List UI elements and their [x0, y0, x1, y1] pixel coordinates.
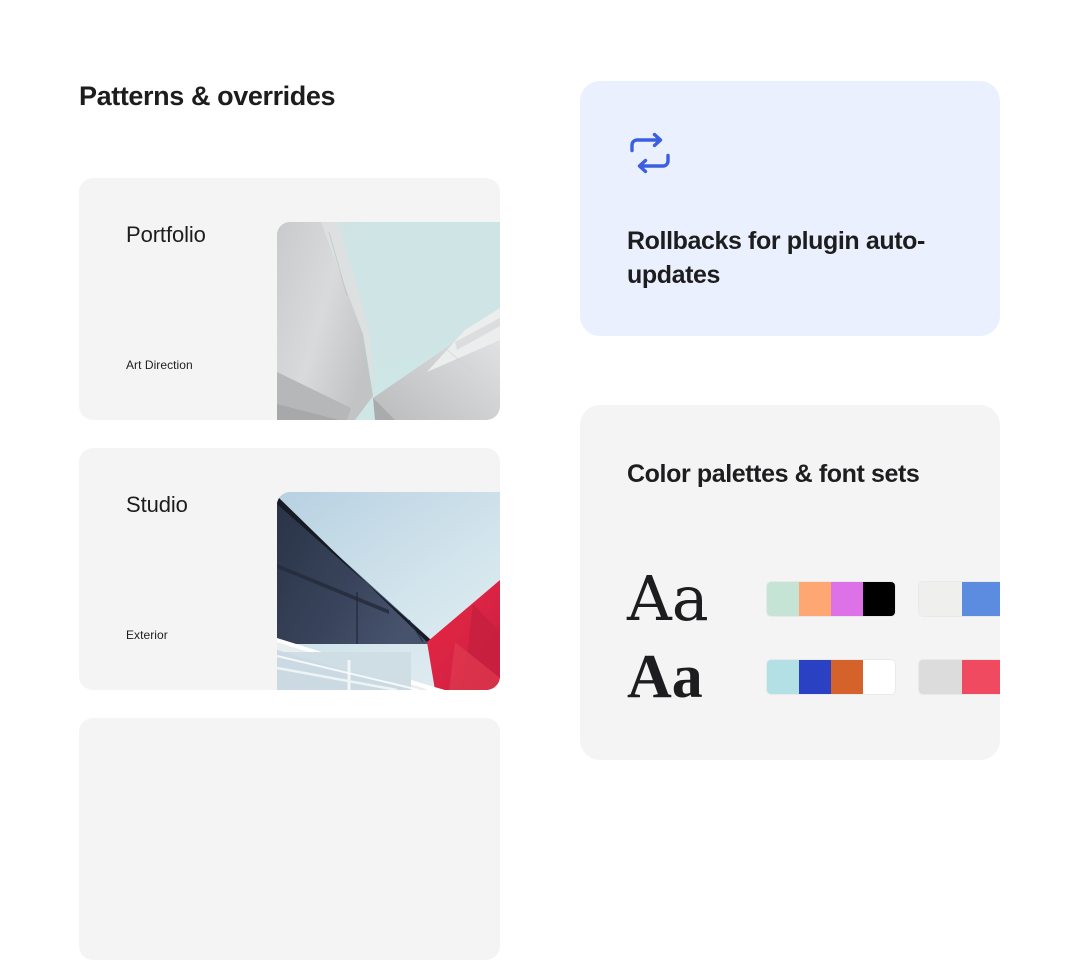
feature-card-rollbacks[interactable]: Rollbacks for plugin auto-updates: [580, 81, 1000, 336]
palette-card-title: Color palettes & font sets: [627, 457, 957, 492]
page-canvas: Patterns & overrides Portfolio Art Direc…: [0, 0, 1080, 760]
project-title: Studio: [126, 492, 188, 518]
portfolio-architecture-photo: [277, 222, 500, 420]
color-swatch[interactable]: [831, 582, 863, 616]
palette-card[interactable]: Color palettes & font sets Aa Aa: [580, 405, 1000, 760]
color-swatch[interactable]: [799, 660, 831, 694]
font-specimen-glyph: Aa: [627, 638, 737, 716]
color-swatch[interactable]: [863, 660, 895, 694]
color-swatch[interactable]: [962, 582, 1000, 616]
project-subtitle: Exterior: [126, 628, 168, 642]
project-card-third[interactable]: [79, 718, 500, 960]
palette-offwhite-blue-black[interactable]: [919, 582, 1000, 616]
color-swatch[interactable]: [831, 660, 863, 694]
feature-card-title: Rollbacks for plugin auto-updates: [627, 224, 967, 292]
color-swatch[interactable]: [919, 660, 962, 694]
color-swatch[interactable]: [767, 660, 799, 694]
studio-architecture-photo: [277, 492, 500, 690]
palette-mint-peach-orchid-black[interactable]: [767, 582, 895, 616]
specimen-row: Aa: [627, 638, 1000, 716]
project-title: Portfolio: [126, 222, 206, 248]
palette-gray-crimson-black[interactable]: [919, 660, 1000, 694]
color-swatch[interactable]: [863, 582, 895, 616]
color-swatch[interactable]: [919, 582, 962, 616]
specimen-list: Aa Aa: [627, 560, 1000, 716]
page-title: Patterns & overrides: [79, 80, 335, 114]
specimen-row: Aa: [627, 560, 1000, 638]
color-swatch[interactable]: [962, 660, 1000, 694]
project-card-studio[interactable]: Studio Exterior: [79, 448, 500, 690]
palette-cyan-blue-orange-white[interactable]: [767, 660, 895, 694]
loop-repeat-icon: [627, 131, 673, 175]
project-subtitle: Art Direction: [126, 358, 193, 372]
color-swatch[interactable]: [799, 582, 831, 616]
font-specimen-glyph: Aa: [627, 560, 737, 638]
color-swatch[interactable]: [767, 582, 799, 616]
project-card-portfolio[interactable]: Portfolio Art Direction: [79, 178, 500, 420]
